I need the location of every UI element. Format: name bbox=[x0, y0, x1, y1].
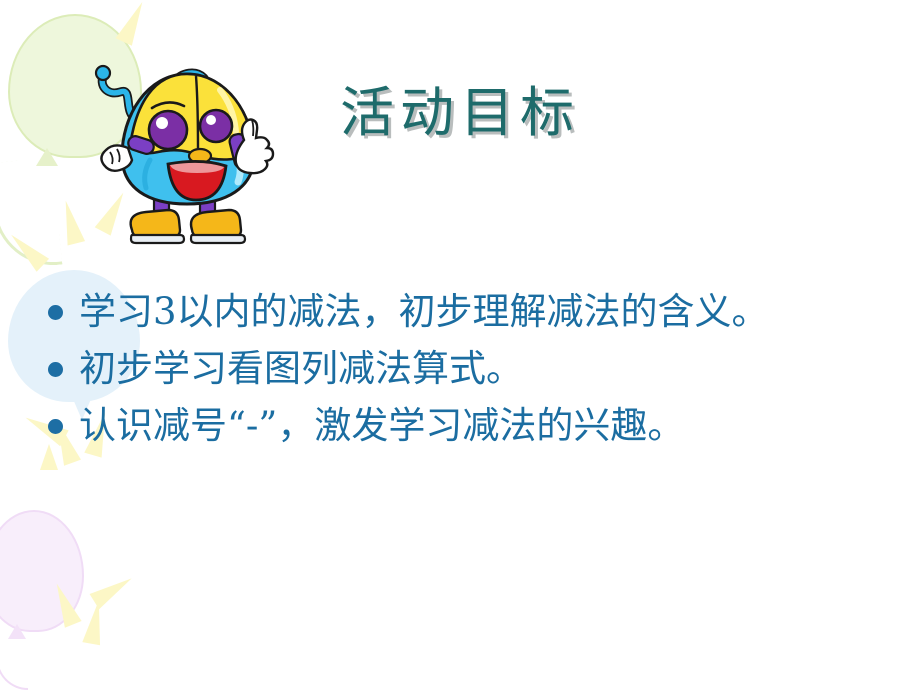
bullet-marker-icon bbox=[48, 305, 63, 320]
lavender-balloon-string-icon bbox=[0, 638, 28, 690]
bullet-marker-icon bbox=[48, 362, 63, 377]
slide-canvas: 活动目标 学习3以内的减法，初步理解减法的含义。 初步学习看图列减法算式。 认识… bbox=[0, 0, 920, 690]
sparkle-ray-icon bbox=[90, 571, 137, 610]
green-balloon-knot-icon bbox=[36, 148, 58, 166]
objectives-list: 学习3以内的减法，初步理解减法的含义。 初步学习看图列减法算式。 认识减号“-”… bbox=[48, 288, 898, 459]
list-item-label: 认识减号“-”，激发学习减法的兴趣。 bbox=[79, 402, 684, 450]
sparkle-ray-icon bbox=[116, 0, 151, 46]
mascot-character bbox=[92, 52, 297, 257]
list-item-label: 学习3以内的减法，初步理解减法的含义。 bbox=[79, 288, 769, 336]
sparkle-ray-icon bbox=[5, 228, 49, 272]
lavender-balloon-knot-icon bbox=[8, 624, 26, 639]
list-item-label: 初步学习看图列减法算式。 bbox=[79, 345, 523, 393]
sparkle-ray-icon bbox=[48, 580, 81, 628]
page-title: 活动目标 bbox=[340, 68, 580, 147]
sparkle-ray-icon bbox=[57, 198, 85, 245]
list-item: 学习3以内的减法，初步理解减法的含义。 bbox=[48, 288, 898, 336]
list-item: 初步学习看图列减法算式。 bbox=[48, 345, 898, 393]
bullet-marker-icon bbox=[48, 419, 63, 434]
list-item: 认识减号“-”，激发学习减法的兴趣。 bbox=[48, 402, 898, 450]
